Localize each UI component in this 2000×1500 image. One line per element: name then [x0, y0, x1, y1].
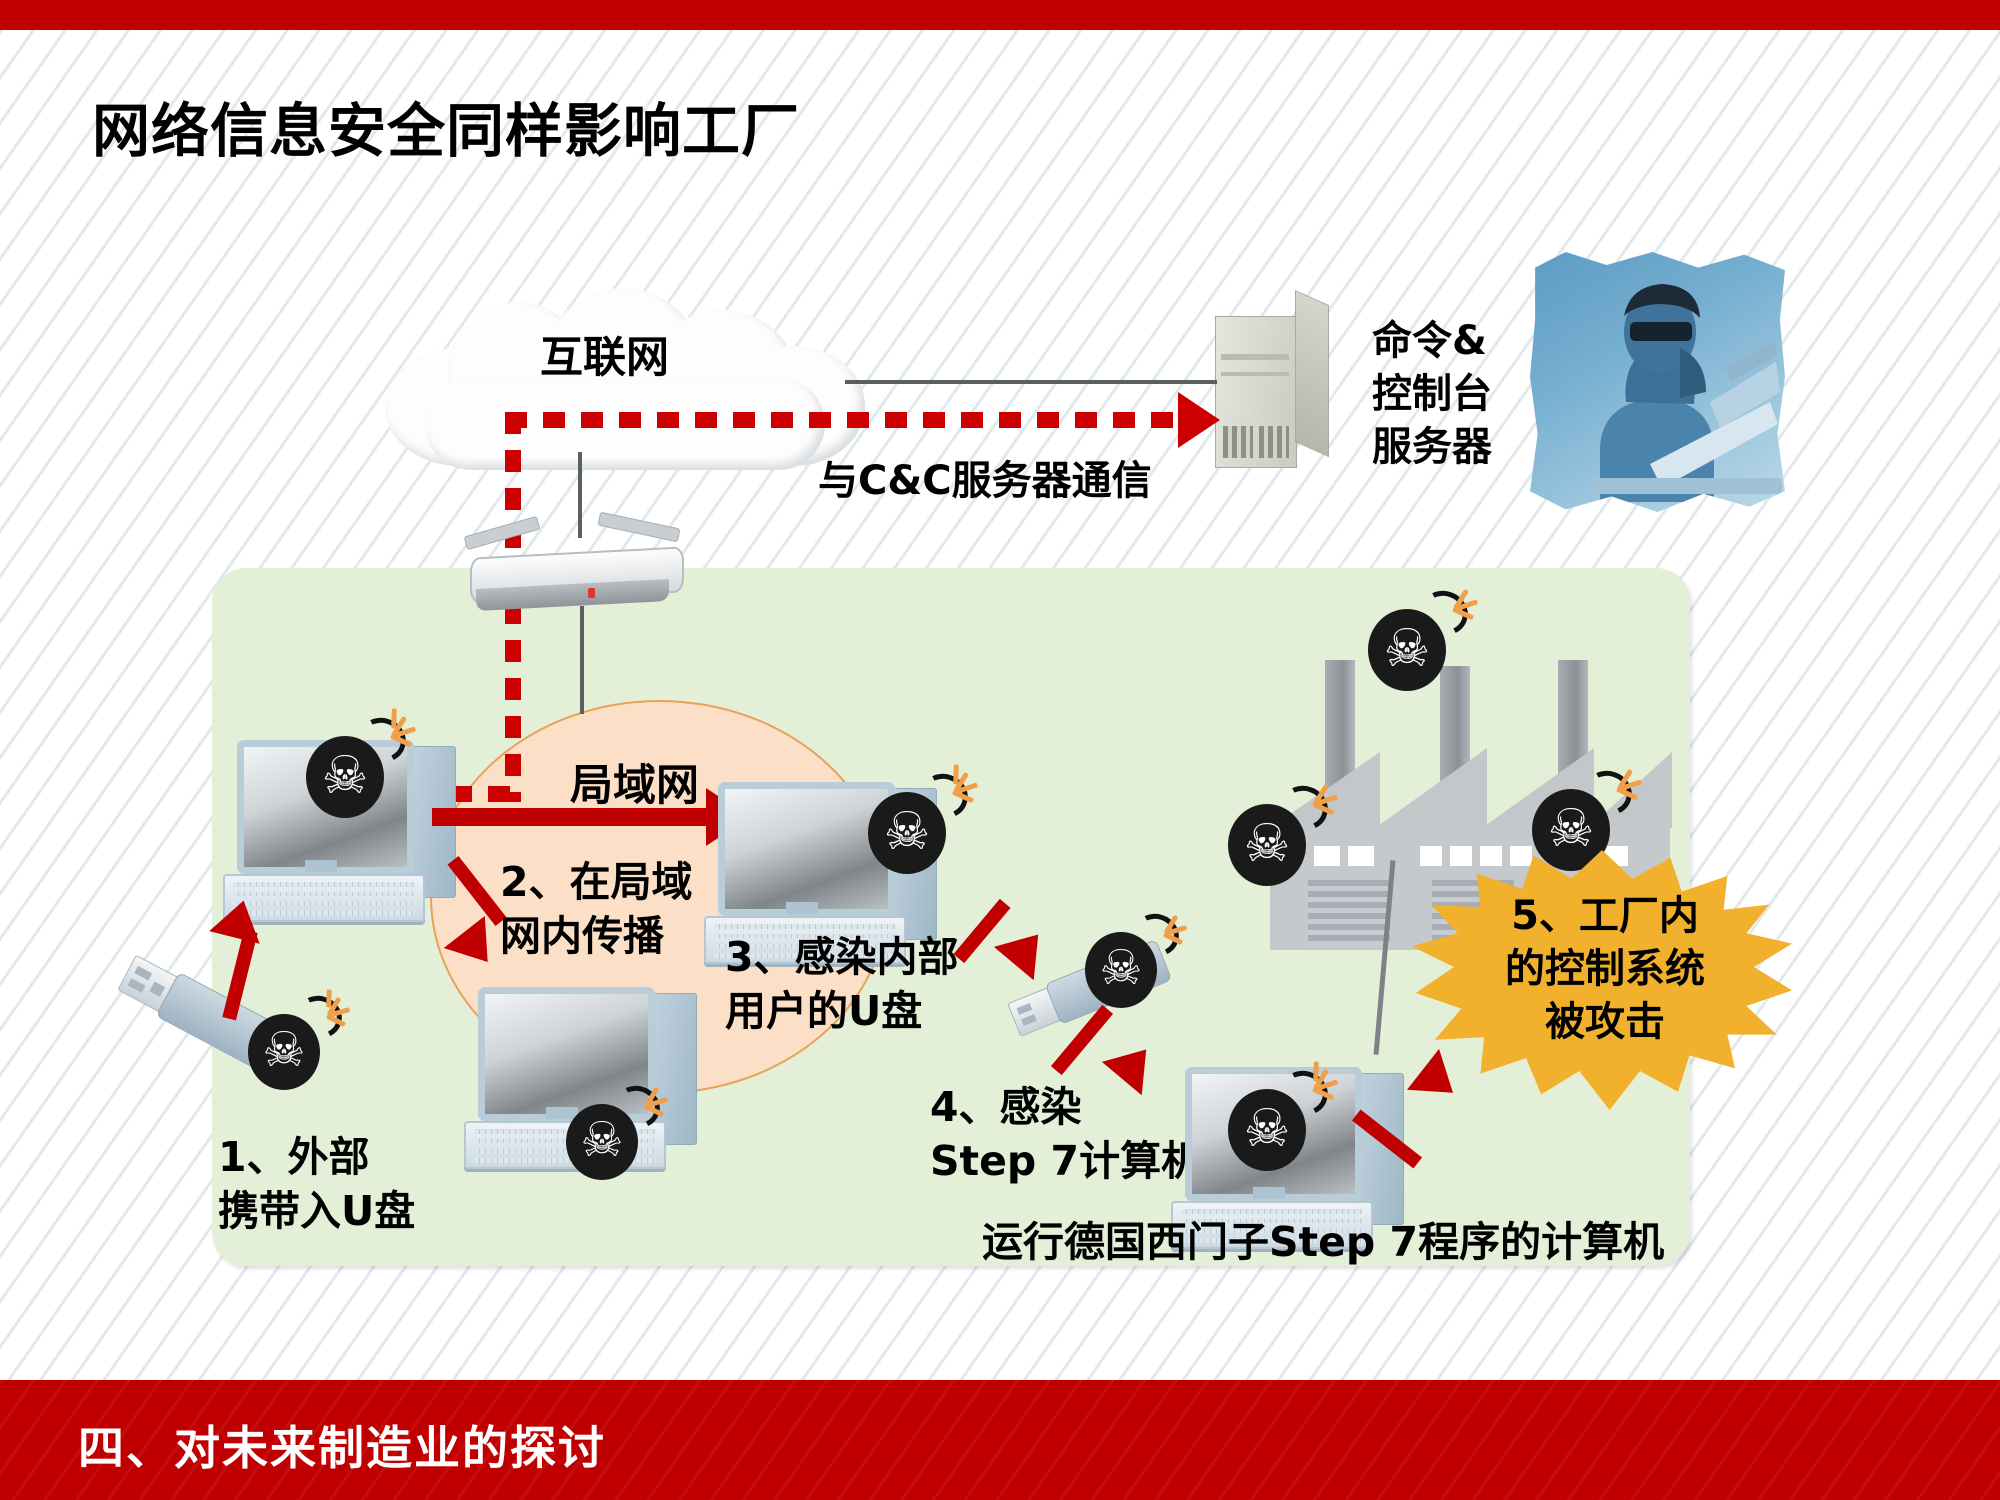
top-accent-bar: [0, 0, 2000, 30]
router-to-lan-link: [580, 606, 584, 714]
footer-section-title: 四、对未来制造业的探讨: [78, 1412, 606, 1478]
skull-glyph: ☠: [566, 1116, 638, 1164]
bomb-skull-icon: ☠: [306, 722, 390, 818]
bomb-skull-icon: ☠: [566, 1090, 644, 1182]
step4-label: 4、感染 Step 7计算机: [930, 1080, 1202, 1188]
step3-label: 3、感染内部 用户的U盘: [725, 930, 959, 1038]
cc-traffic-arrowhead-right: [1178, 392, 1220, 448]
lan-label: 局域网: [570, 758, 699, 815]
cc-channel-label: 与C&C服务器通信: [818, 455, 1152, 508]
hacker-at-laptop-image: [1530, 252, 1785, 512]
bomb-skull-icon: ☠: [868, 778, 952, 874]
internet-to-server-link: [845, 380, 1217, 384]
skull-glyph: ☠: [248, 1026, 320, 1074]
internet-cloud-label: 互联网: [540, 330, 669, 387]
skull-glyph: ☠: [1228, 818, 1306, 870]
skull-glyph: ☠: [1368, 623, 1446, 675]
cloud-to-router-link: [578, 452, 582, 538]
step7-caption: 运行德国西门子Step 7程序的计算机: [982, 1215, 1664, 1269]
cc-traffic-dashed-horizontal: [505, 412, 1185, 428]
bomb-skull-icon: ☠: [1228, 790, 1312, 886]
bomb-skull-icon: ☠: [248, 1000, 326, 1092]
step5-label: 5、工厂内 的控制系统 被攻击: [1460, 890, 1750, 1048]
skull-glyph: ☠: [1532, 803, 1610, 855]
page-title: 网络信息安全同样影响工厂: [92, 84, 800, 168]
skull-glyph: ☠: [1085, 944, 1157, 992]
server-tower-icon: [1215, 290, 1335, 475]
wireless-router-icon: [470, 530, 680, 618]
bomb-skull-icon: ☠: [1368, 595, 1452, 691]
skull-glyph: ☠: [1228, 1103, 1306, 1155]
skull-glyph: ☠: [306, 750, 384, 802]
bomb-skull-icon: ☠: [1228, 1075, 1312, 1171]
skull-glyph: ☠: [868, 806, 946, 858]
slide-canvas: 网络信息安全同样影响工厂 互联网 命令& 控制台 服务器: [0, 0, 2000, 1500]
step2-label: 2、在局域 网内传播: [500, 855, 693, 963]
lan-spread-arrow-shaft: [432, 808, 712, 826]
cc-server-label: 命令& 控制台 服务器: [1372, 315, 1492, 473]
bomb-skull-icon: ☠: [1085, 918, 1163, 1010]
step1-label: 1、外部 携带入U盘: [218, 1130, 415, 1238]
